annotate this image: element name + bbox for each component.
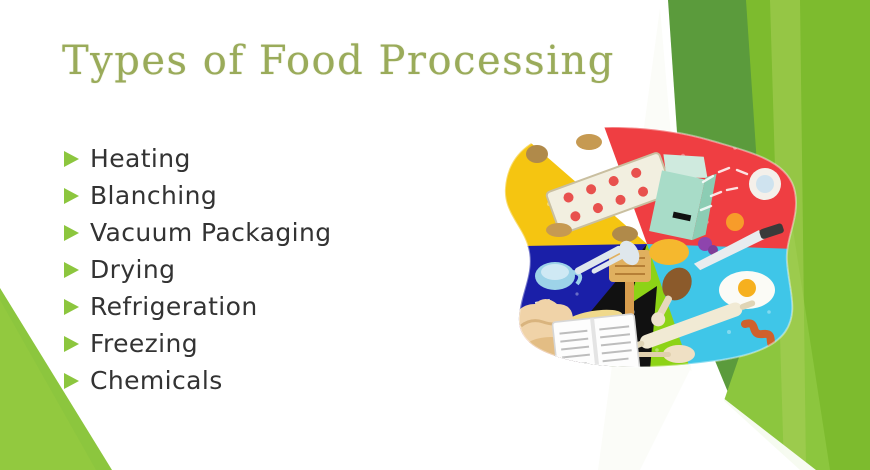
list-item-label: Blanching: [90, 183, 217, 208]
cookie-icon: [576, 134, 602, 150]
bullet-list: Heating Blanching Vacuum Packaging Dryin…: [62, 140, 332, 399]
recipe-book-icon: [552, 314, 639, 371]
list-item: Drying: [62, 251, 332, 288]
list-item: Freezing: [62, 325, 332, 362]
list-item-label: Heating: [90, 146, 191, 171]
bread-slice-icon: [649, 239, 689, 265]
triangle-bullet-icon: [62, 261, 84, 278]
list-item: Blanching: [62, 177, 332, 214]
list-item-label: Vacuum Packaging: [90, 220, 332, 245]
list-item: Heating: [62, 140, 332, 177]
triangle-bullet-icon: [62, 372, 84, 389]
cookie-icon: [612, 226, 638, 242]
list-item-label: Freezing: [90, 331, 198, 356]
list-item-label: Drying: [90, 257, 175, 282]
triangle-bullet-icon: [62, 150, 84, 167]
triangle-bullet-icon: [62, 224, 84, 241]
triangle-bullet-icon: [62, 298, 84, 315]
list-item-label: Chemicals: [90, 368, 223, 393]
triangle-bullet-icon: [62, 335, 84, 352]
triangle-bullet-icon: [62, 187, 84, 204]
slide-canvas: Types of Food Processing Heating Blanchi…: [0, 0, 870, 470]
list-item: Vacuum Packaging: [62, 214, 332, 251]
cookie-icon: [546, 223, 572, 237]
list-item: Chemicals: [62, 362, 332, 399]
candy-icon: [726, 213, 744, 231]
food-processing-illustration: [497, 126, 802, 371]
list-item-label: Refrigeration: [90, 294, 258, 319]
list-item: Refrigeration: [62, 288, 332, 325]
page-title: Types of Food Processing: [62, 38, 615, 84]
cookie-icon: [526, 145, 548, 163]
